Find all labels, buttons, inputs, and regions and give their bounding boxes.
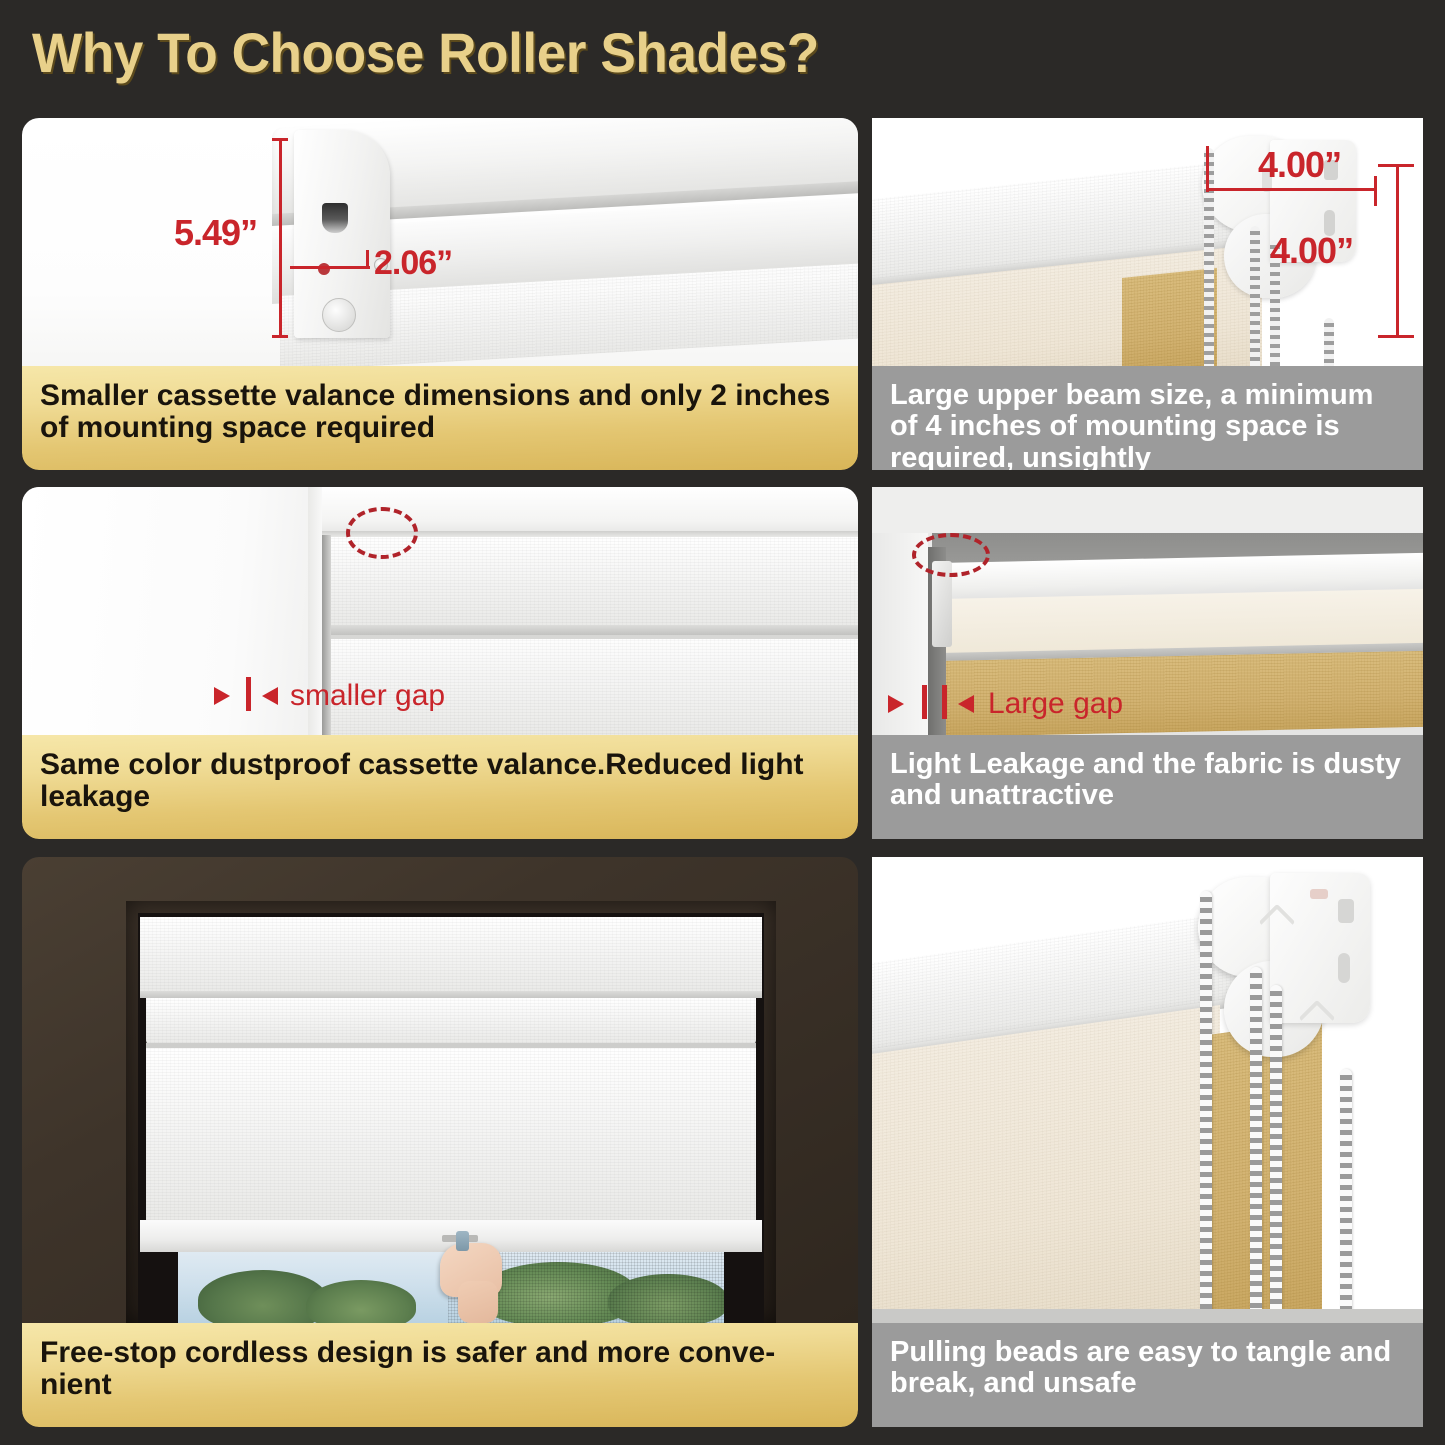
panel-cordless-design: Free-stop cordless design is safer and m… [22, 857, 858, 1427]
height-tick-bottom [272, 335, 288, 338]
beaded-chain [1200, 891, 1212, 1323]
gap-arrow-right [958, 695, 974, 713]
photo-window-with-hand [22, 857, 858, 1323]
gap-label: Large gap [988, 687, 1123, 721]
beam-width-tick-right [1374, 176, 1377, 206]
width-dimension-line-top [290, 266, 370, 269]
gap-highlight-ring [346, 507, 418, 559]
caption-panel-2: Large upper beam size, a minimum of 4 in… [872, 366, 1423, 470]
panel-light-leakage: Large gap Light Leakage and the fabric i… [872, 487, 1423, 839]
photo-large-bracket-roller: 4.00” 4.00” [872, 118, 1423, 368]
photo-cassette-valance-profile: 5.49” 2.06” [22, 118, 858, 368]
photo-light-gap-tan-shade: Large gap [872, 487, 1423, 737]
panel-smaller-cassette: 5.49” 2.06” Smaller cassette valance dim… [22, 118, 858, 470]
photo-beaded-chain-roller [872, 857, 1423, 1323]
infographic-page: Why To Choose Roller Shades? 5.49” [0, 0, 1445, 1445]
caption-panel-3: Same color dustproof cassette valance.Re… [22, 735, 858, 839]
caption-panel-6: Pulling beads are easy to tangle and bre… [872, 1323, 1423, 1427]
gap-arrow-left [214, 687, 230, 705]
panel-large-upper-beam: 4.00” 4.00” Large upper beam size, a min… [872, 118, 1423, 470]
beam-width-dimension-label: 4.00” [1258, 144, 1341, 186]
panel-pulling-beads: Pulling beads are easy to tangle and bre… [872, 857, 1423, 1427]
caption-panel-1: Smaller cassette valance dimensions and … [22, 366, 858, 470]
beaded-chain [1340, 1069, 1352, 1323]
beam-height-tick-top [1378, 164, 1414, 167]
beam-width-dimension-line [1208, 188, 1376, 191]
gap-arrow-right [262, 687, 278, 705]
gap-marker-2 [942, 685, 947, 719]
gap-marker [246, 677, 251, 711]
beam-height-dimension-label: 4.00” [1270, 230, 1353, 272]
beaded-chain [1270, 985, 1282, 1323]
beaded-chain [1250, 226, 1260, 368]
beam-height-dimension-line [1396, 164, 1399, 338]
beaded-chain [1250, 967, 1262, 1323]
gap-highlight-ring [912, 533, 990, 577]
height-dimension-line [279, 138, 282, 338]
beam-height-tick-bottom [1378, 335, 1414, 338]
height-tick-top [272, 138, 288, 141]
caption-panel-4: Light Leakage and the fabric is dusty an… [872, 735, 1423, 839]
height-dimension-label: 5.49” [174, 212, 257, 254]
pull-tab [456, 1231, 469, 1251]
page-title: Why To Choose Roller Shades? [32, 20, 982, 90]
forearm [458, 1281, 498, 1323]
caption-panel-5: Free-stop cordless design is safer and m… [22, 1323, 858, 1427]
panel-dustproof-cassette: smaller gap Same color dustproof cassett… [22, 487, 858, 839]
beam-width-tick-left [1206, 146, 1209, 192]
photo-cassette-in-window-frame: smaller gap [22, 487, 858, 737]
beaded-chain [1324, 318, 1334, 368]
gap-marker [922, 685, 927, 719]
gap-label: smaller gap [290, 679, 445, 713]
width-tick-right [366, 250, 369, 268]
width-dimension-label: 2.06” [374, 244, 452, 283]
gap-arrow-left [888, 695, 904, 713]
